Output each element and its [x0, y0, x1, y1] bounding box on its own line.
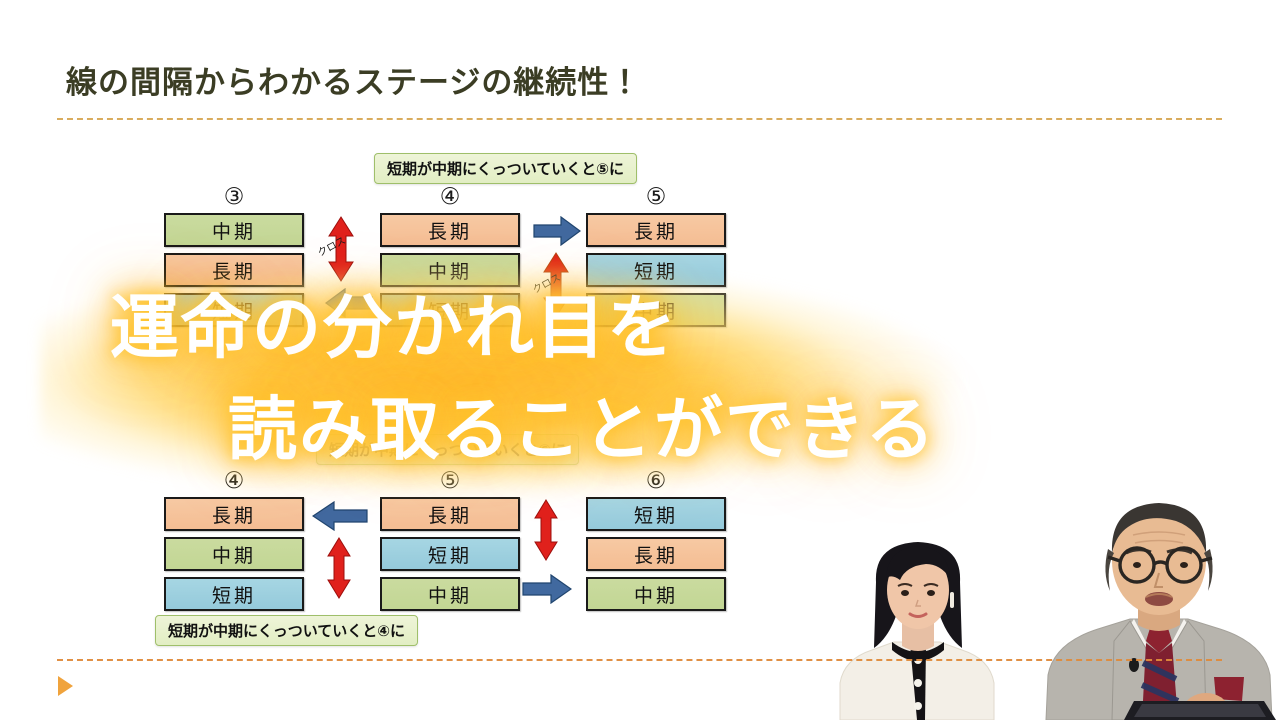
stage-cell: 中期	[380, 253, 520, 287]
column-number: ③	[164, 186, 304, 209]
blue-right-arrow-icon	[522, 574, 572, 604]
stage-cell: 長期	[586, 537, 726, 571]
presenter-video-overlay	[800, 500, 1280, 720]
diagram-column-5: ⑤ 長期 短期 中期	[586, 186, 726, 333]
avatar-female-presenter	[822, 520, 1012, 720]
column-number: ④	[164, 470, 304, 493]
stage-cell: 中期	[586, 577, 726, 611]
divider-bottom	[57, 659, 1222, 661]
diagram-column-4-lower: ④ 長期 中期 短期	[164, 470, 304, 617]
stage-cell: 短期	[586, 497, 726, 531]
stage-cell: 長期	[586, 213, 726, 247]
callout-top: 短期が中期にくっついていくと⑤に	[374, 153, 637, 184]
blue-left-arrow-icon	[325, 288, 373, 318]
column-number: ⑥	[586, 470, 726, 493]
stage-cell: 長期	[164, 253, 304, 287]
avatar-male-presenter	[1038, 500, 1280, 720]
stage-cell: 中期	[164, 213, 304, 247]
red-double-arrow-icon	[325, 537, 353, 599]
blue-left-arrow-icon	[312, 501, 368, 531]
diagram-column-5-lower: ⑤ 長期 短期 中期	[380, 470, 520, 617]
red-double-arrow-icon	[532, 499, 560, 561]
stage-cell: 中期	[164, 537, 304, 571]
stage-cell: 短期	[380, 537, 520, 571]
stage-cell: 短期	[164, 293, 304, 327]
diagram-column-3: ③ 中期 長期 短期	[164, 186, 304, 333]
diagram-column-4: ④ 長期 中期 短期	[380, 186, 520, 333]
column-number: ⑤	[380, 470, 520, 493]
stage-cell: 短期	[380, 293, 520, 327]
stage-cell: 長期	[164, 497, 304, 531]
column-number: ⑤	[586, 186, 726, 209]
column-number: ④	[380, 186, 520, 209]
play-triangle-icon	[58, 676, 73, 696]
diagram-column-6-lower: ⑥ 短期 長期 中期	[586, 470, 726, 617]
stage-cell: 長期	[380, 497, 520, 531]
blue-right-arrow-icon	[533, 216, 581, 246]
slide-stage: 線の間隔からわかるステージの継続性！ 短期が中期にくっついていくと⑤に ③ 中期…	[0, 0, 1280, 720]
stage-cell: 中期	[586, 293, 726, 327]
stage-cell: 短期	[164, 577, 304, 611]
stage-cell: 長期	[380, 213, 520, 247]
stage-cell: 短期	[586, 253, 726, 287]
callout-bottom: 短期が中期にくっついていくと④に	[155, 615, 418, 646]
stage-cell: 中期	[380, 577, 520, 611]
callout-middle: 短期が中期にくっついていくと⑥に	[316, 434, 579, 465]
